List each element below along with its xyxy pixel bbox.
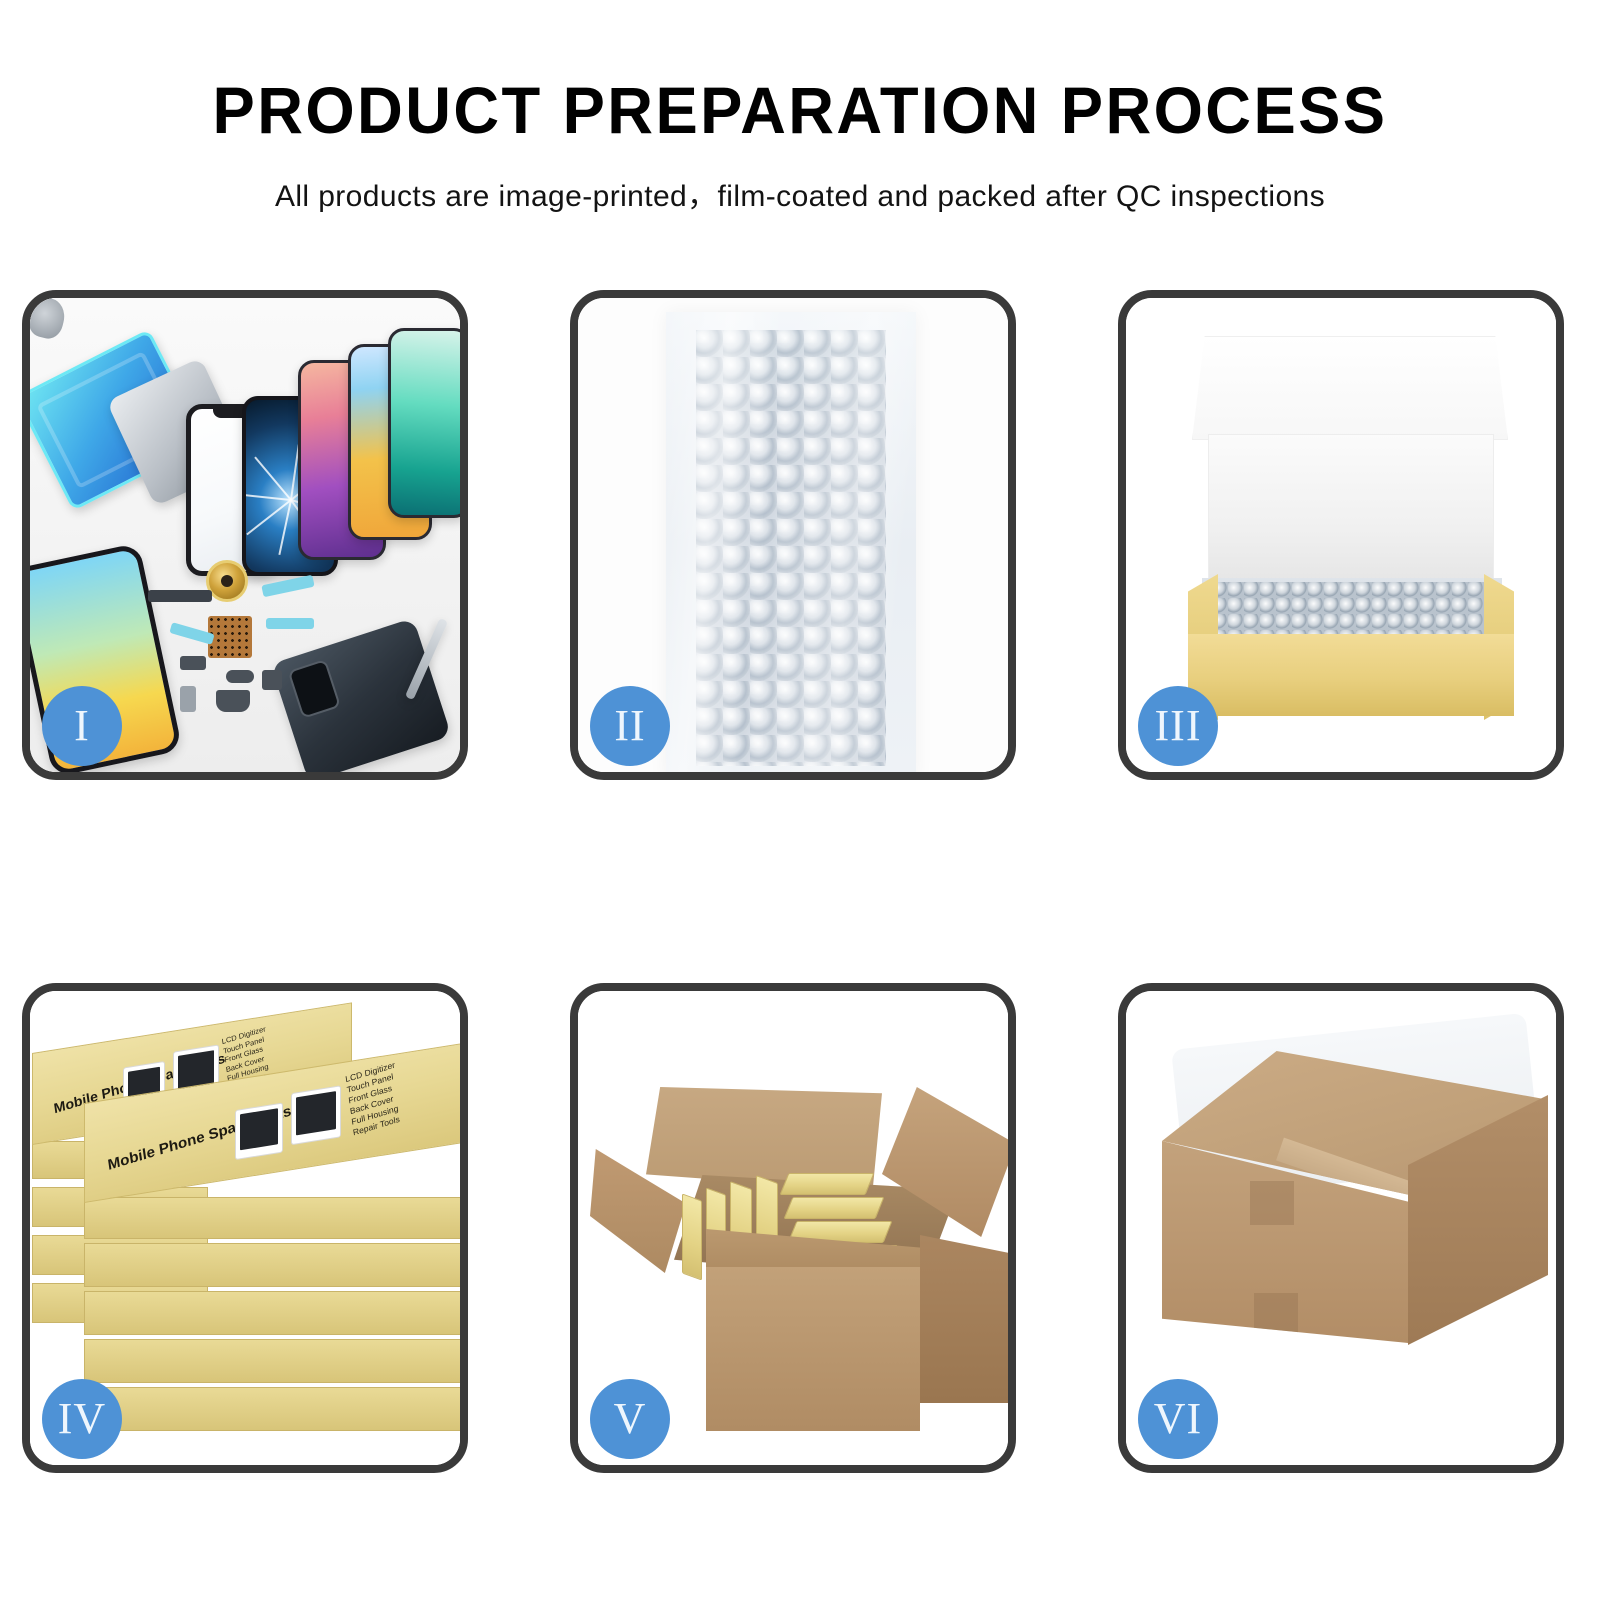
ic-chip-part xyxy=(208,616,252,658)
retail-box-screen-a2 xyxy=(235,1102,283,1160)
packed-retail-box-1 xyxy=(682,1193,702,1280)
packed-retail-box-5 xyxy=(780,1173,875,1195)
step-badge-3: III xyxy=(1138,686,1218,766)
mailer-front-wall xyxy=(1188,634,1514,716)
cleaning-brush-part xyxy=(30,298,68,342)
small-component-a xyxy=(180,656,206,670)
vibration-motor-part xyxy=(216,690,250,712)
page-subtitle: All products are image-printed，film-coat… xyxy=(0,171,1600,215)
small-component-c xyxy=(262,670,282,690)
step-image-product-parts: I xyxy=(30,298,460,772)
step-image-stacked-retail-boxes: Mobile Phone Spare Parts LCD Digitizer T… xyxy=(30,991,460,1465)
step-panel-open-mailer-box: III xyxy=(1118,290,1564,780)
stack-box-front-4 xyxy=(84,1339,460,1383)
teal-display-part xyxy=(388,328,460,518)
carton-seam-tab-top xyxy=(1250,1181,1294,1225)
phone-back-housing-part xyxy=(271,618,452,772)
sim-tray-part xyxy=(180,686,196,712)
header: PRODUCT PREPARATION PROCESS All products… xyxy=(0,0,1600,215)
stack-box-front-3 xyxy=(84,1291,460,1335)
step-badge-1: I xyxy=(42,686,122,766)
stack-box-front-5 xyxy=(84,1387,460,1431)
step-panel-stacked-retail-boxes: Mobile Phone Spare Parts LCD Digitizer T… xyxy=(22,983,468,1473)
mailer-lid-face xyxy=(1208,434,1494,582)
earpiece-speaker-part xyxy=(148,590,212,602)
step-panel-product-parts: I xyxy=(22,290,468,780)
step-image-open-shipping-carton: V xyxy=(578,991,1008,1465)
page-title: PRODUCT PREPARATION PROCESS xyxy=(32,76,1568,145)
camera-module-part xyxy=(206,560,248,602)
flex-cable-part-b xyxy=(266,618,314,629)
bubble-texture xyxy=(696,330,886,766)
step-badge-4: IV xyxy=(42,1379,122,1459)
stack-box-front-1 xyxy=(84,1197,460,1239)
retail-box-checklist-2: LCD Digitizer Touch Panel Front Glass Ba… xyxy=(345,1060,404,1139)
step-panel-bubble-wrapped-item: II xyxy=(570,290,1016,780)
step-badge-6: VI xyxy=(1138,1379,1218,1459)
bubble-wrap-sheet-inside xyxy=(1212,582,1490,636)
step-image-bubble-wrapped-item: II xyxy=(578,298,1008,772)
mailer-lid-back xyxy=(1192,336,1508,440)
packed-retail-box-6 xyxy=(784,1197,885,1219)
step-badge-2: II xyxy=(590,686,670,766)
carton-front-wall xyxy=(706,1267,920,1431)
step-panel-sealed-shipping-carton: VI xyxy=(1118,983,1564,1473)
step-image-sealed-shipping-carton: VI xyxy=(1126,991,1556,1465)
bubble-pouch xyxy=(666,312,916,772)
stack-box-front-2 xyxy=(84,1243,460,1287)
step-panel-open-shipping-carton: V xyxy=(570,983,1016,1473)
carton-seam-tab-bottom xyxy=(1254,1293,1298,1337)
process-steps-grid: I II xyxy=(22,290,1578,1473)
flex-cable-part-a xyxy=(261,575,314,598)
carton-right-wall xyxy=(920,1235,1008,1403)
step-badge-5: V xyxy=(590,1379,670,1459)
small-component-b xyxy=(226,670,254,683)
infographic-page: PRODUCT PREPARATION PROCESS All products… xyxy=(0,0,1600,1600)
retail-box-screen-b2 xyxy=(291,1085,341,1145)
step-image-open-mailer-box: III xyxy=(1126,298,1556,772)
